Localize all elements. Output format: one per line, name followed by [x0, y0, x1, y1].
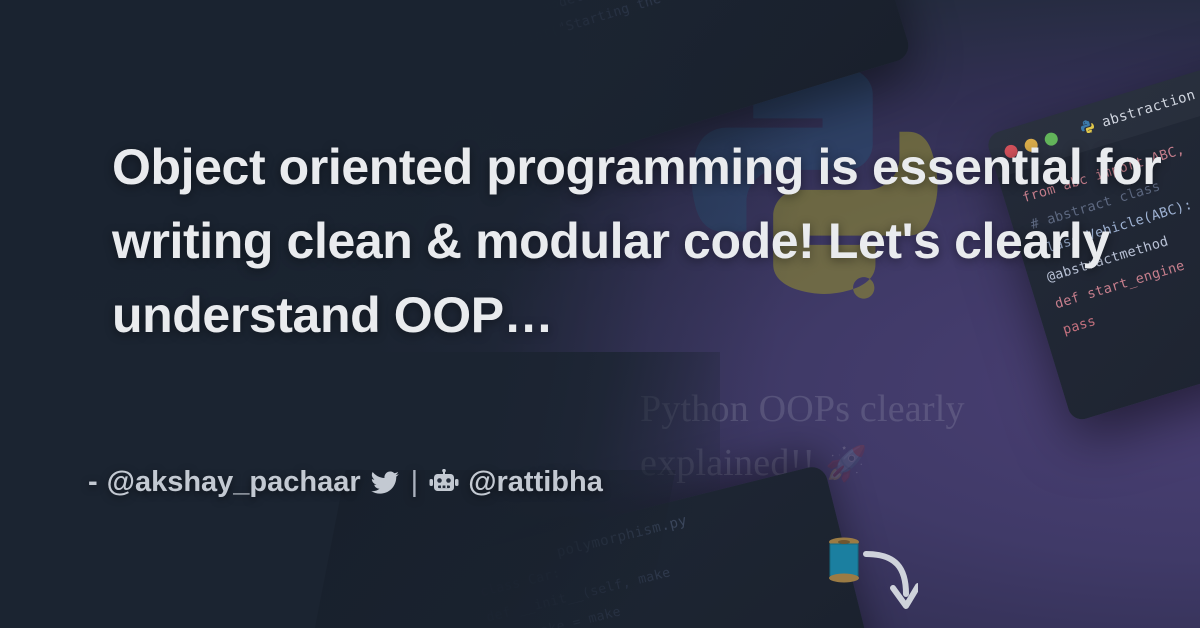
byline-dash: - [88, 466, 98, 499]
twitter-bird-icon[interactable] [370, 468, 400, 498]
robot-icon [429, 469, 459, 497]
byline: - @akshay_pachaar | @rattibha [88, 466, 603, 499]
byline-separator: | [409, 466, 421, 499]
author-handle[interactable]: @akshay_pachaar [107, 466, 361, 499]
social-share-card: def __init__(self, make, mod self.make =… [0, 0, 1200, 628]
thread-spool-icon [824, 536, 864, 584]
service-handle[interactable]: @rattibha [468, 466, 603, 499]
page-title: Object oriented programming is essential… [112, 130, 1172, 352]
curved-down-arrow-icon [862, 548, 918, 622]
rocket-icon: 🚀 [825, 446, 868, 483]
